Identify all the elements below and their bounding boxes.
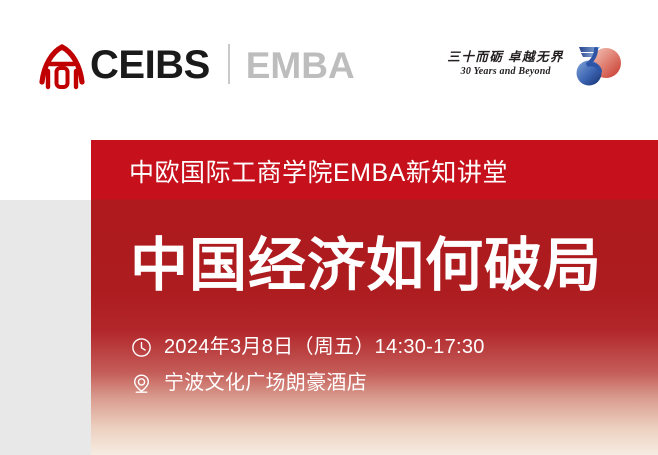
- banner-subtitle: 中欧国际工商学院EMBA新知讲堂: [129, 160, 508, 188]
- banner-title: 中国经济如何破局: [130, 234, 602, 298]
- ceibs-brand-lockup: CEIBS EMBA: [38, 36, 355, 92]
- event-datetime-row: 2024年3月8日（周五）14:30-17:30: [131, 332, 485, 362]
- red-banner: 中欧国际工商学院EMBA新知讲堂 中国经济如何破局 2024年3月8日（周五）1…: [91, 140, 658, 455]
- anniversary-slogan-chinese: 三十而砺 卓越无界: [447, 50, 564, 64]
- event-poster: CEIBS EMBA 三十而砺 卓越无界 30 Years and Beyond: [0, 0, 658, 455]
- clock-icon: [131, 337, 152, 358]
- thirty-anniversary-icon: [572, 40, 622, 88]
- event-location-text: 宁波文化广场朗豪酒店: [164, 373, 367, 393]
- anniversary-lockup: 三十而砺 卓越无界 30 Years and Beyond: [447, 38, 622, 90]
- left-gray-panel: [0, 200, 91, 455]
- event-meta-list: 2024年3月8日（周五）14:30-17:30 宁波文化广场朗豪酒店: [131, 332, 485, 404]
- event-datetime-text: 2024年3月8日（周五）14:30-17:30: [164, 337, 485, 357]
- emba-wordmark: EMBA: [246, 47, 355, 84]
- poster-header: CEIBS EMBA 三十而砺 卓越无界 30 Years and Beyond: [0, 0, 658, 130]
- brand-divider: [228, 44, 230, 84]
- anniversary-slogan-english: 30 Years and Beyond: [447, 66, 564, 78]
- event-location-row: 宁波文化广场朗豪酒店: [131, 368, 485, 398]
- location-pin-icon: [131, 373, 152, 394]
- banner-content: 中欧国际工商学院EMBA新知讲堂 中国经济如何破局 2024年3月8日（周五）1…: [91, 140, 658, 455]
- ceibs-wordmark: CEIBS: [90, 45, 210, 85]
- anniversary-slogans: 三十而砺 卓越无界 30 Years and Beyond: [447, 50, 564, 77]
- ceibs-gate-icon: [38, 38, 86, 90]
